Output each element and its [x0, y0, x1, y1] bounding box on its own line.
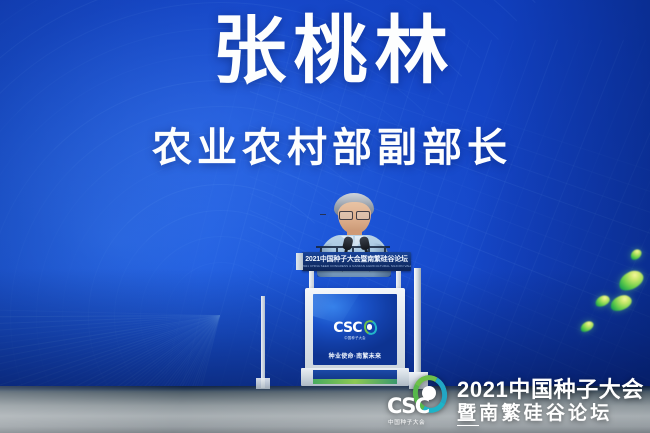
- stage-post-right: [414, 268, 421, 388]
- watermark-line-1: 2021中国种子大会: [457, 378, 644, 401]
- watermark-line-2-rest: 南繁硅谷论坛: [479, 403, 612, 424]
- podium-banner: 2021中国种子大会暨南繁硅谷论坛 2021 CHINA SEED CONGRE…: [302, 252, 411, 271]
- podium-logo-text: CSC: [333, 321, 362, 335]
- glasses-icon: [338, 211, 371, 219]
- watermark-logo-subtext: 中国种子大会: [388, 418, 425, 426]
- watermark-logo-text: CSC: [387, 396, 429, 417]
- event-watermark-logo: CSC 中国种子大会 2021中国种子大会 暨南繁硅谷论坛: [385, 375, 644, 427]
- watermark-logo-mark: CSC 中国种子大会: [385, 375, 451, 427]
- podium-tagline: 种业使命·南繁未来: [313, 351, 397, 360]
- watermark-line-2: 暨南繁硅谷论坛: [457, 404, 644, 424]
- podium-logo: CSC: [313, 320, 397, 335]
- speaker-name-headline: 张桃林: [0, 14, 650, 88]
- speaker-title-subheadline: 农业农村部副部长: [0, 128, 650, 168]
- podium-frame: CSC 中国种子大会 种业使命·南繁未来: [305, 288, 405, 370]
- podium-banner-subtitle: 2021 CHINA SEED CONGRESS & NANFAN AGRICU…: [302, 264, 411, 268]
- podium-logo-subtext: 中国种子大会: [313, 335, 397, 340]
- podium-banner-title: 2021中国种子大会暨南繁硅谷论坛: [303, 254, 410, 264]
- podium-banner-left-cap: [296, 253, 303, 270]
- podium-front-panel: CSC 中国种子大会 种业使命·南繁未来: [313, 294, 397, 365]
- watermark-line-2-first: 暨: [457, 403, 479, 426]
- stage-post-left-base: [256, 378, 270, 389]
- watermark-text-block: 2021中国种子大会 暨南繁硅谷论坛: [457, 378, 644, 423]
- podium: 2021中国种子大会暨南繁硅谷论坛 2021 CHINA SEED CONGRE…: [299, 252, 411, 386]
- glasses-bridge: [320, 214, 326, 215]
- stage-post-left: [261, 296, 265, 388]
- conference-stage-photo: 张桃林 农业农村部副部长 2021中国种子大会暨南繁硅谷论坛: [0, 0, 650, 433]
- sprout-icon: [364, 320, 377, 335]
- seed-circle-icon: [367, 324, 372, 329]
